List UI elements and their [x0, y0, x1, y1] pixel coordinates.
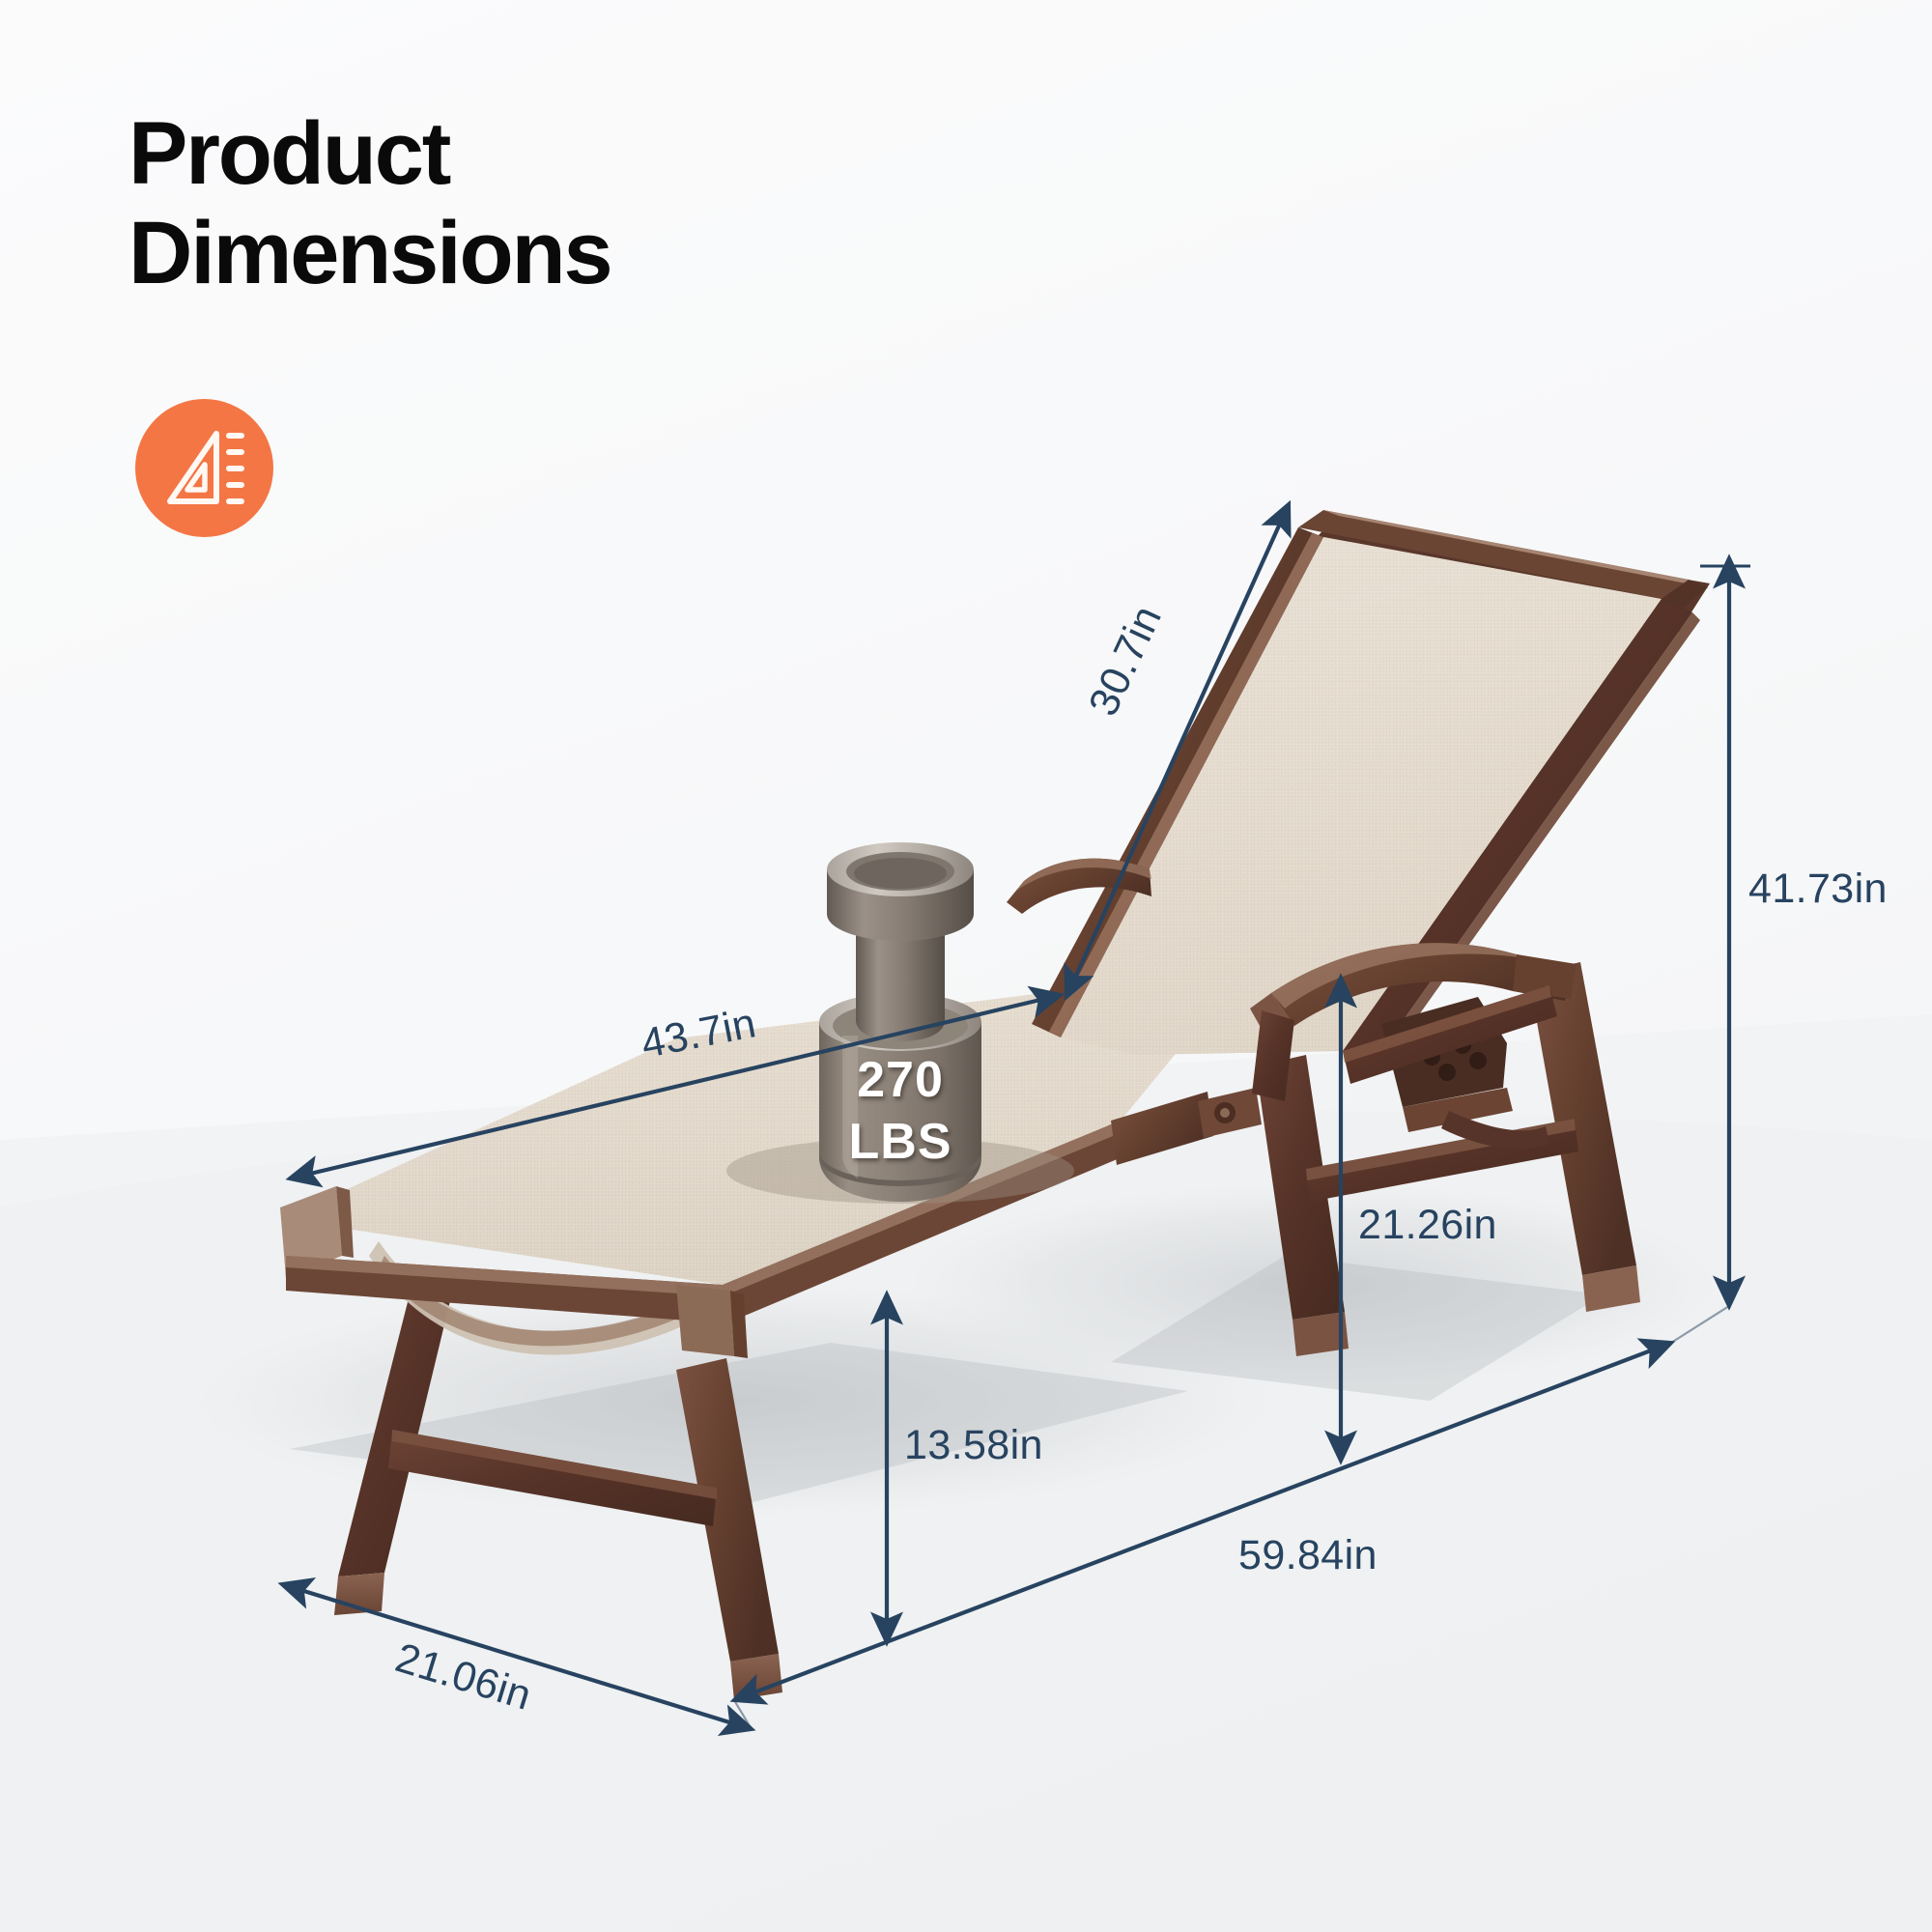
- dimension-label-seat-height: 21.26in: [1358, 1202, 1497, 1249]
- dimension-label-overall-length: 59.84in: [1238, 1532, 1378, 1579]
- product-illustration: [0, 0, 1932, 1932]
- weight-unit: LBS: [804, 1113, 997, 1171]
- product-dimensions-infographic: Product Dimensions: [0, 0, 1932, 1932]
- dimension-label-overall-height: 41.73in: [1748, 866, 1888, 913]
- weight-value: 270: [804, 1051, 997, 1109]
- dimension-label-frame-height: 13.58in: [904, 1422, 1043, 1469]
